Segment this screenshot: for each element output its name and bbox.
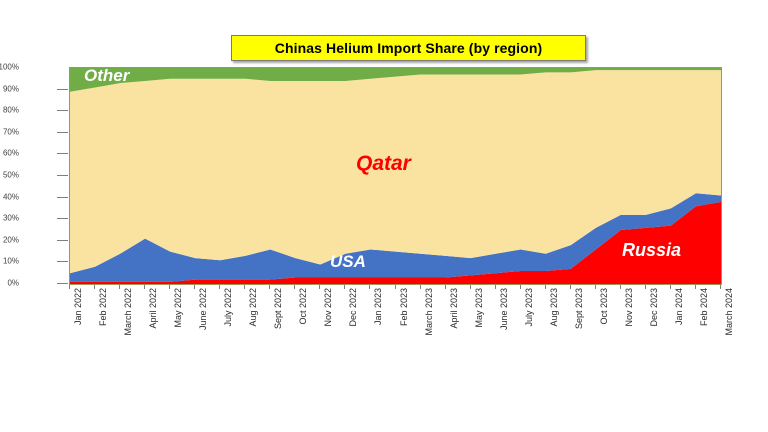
x-axis-tick-label: Aug 2022 <box>248 288 258 327</box>
y-axis-tick-mark <box>57 283 68 284</box>
y-axis-tick-mark <box>57 240 68 241</box>
x-axis-tick-label: Jan 2023 <box>373 288 383 325</box>
plot-area <box>69 67 722 285</box>
x-axis-tick-label: Feb 2023 <box>399 288 409 326</box>
x-axis-tick-label: Oct 2022 <box>298 288 308 325</box>
chart-title-box: Chinas Helium Import Share (by region) <box>231 35 586 61</box>
x-axis-tick-label: Jan 2024 <box>674 288 684 325</box>
y-axis-tick-mark <box>57 218 68 219</box>
x-axis-tick-label: April 2022 <box>148 288 158 329</box>
y-axis-tick-mark <box>57 197 68 198</box>
x-axis-tick-label: March 2024 <box>724 288 734 336</box>
x-axis-tick-label: Feb 2022 <box>98 288 108 326</box>
x-axis-tick-label: June 2023 <box>499 288 509 330</box>
x-axis-tick-label: April 2023 <box>449 288 459 329</box>
x-axis-tick-label: July 2022 <box>223 288 233 327</box>
y-axis-tick-label: 0% <box>7 279 19 288</box>
x-axis-tick-label: Feb 2024 <box>699 288 709 326</box>
x-axis-tick-label: Jan 2022 <box>73 288 83 325</box>
y-axis-tick-label: 40% <box>3 192 19 201</box>
x-axis-tick-label: March 2023 <box>424 288 434 336</box>
stacked-area-svg <box>70 68 721 284</box>
y-axis-tick-label: 50% <box>3 171 19 180</box>
y-axis-tick-mark <box>57 153 68 154</box>
y-axis-tick-label: 30% <box>3 214 19 223</box>
x-axis-tick-label: July 2023 <box>524 288 534 327</box>
y-axis-tick-label: 60% <box>3 149 19 158</box>
y-axis-tick-mark <box>57 132 68 133</box>
x-axis-tick-label: Oct 2023 <box>599 288 609 325</box>
x-axis-tick-label: Dec 2022 <box>348 288 358 327</box>
page-title: Chinas Helium Import Share (by region) <box>275 40 543 56</box>
y-axis-tick-mark <box>57 261 68 262</box>
x-axis-tick-label: March 2022 <box>123 288 133 336</box>
x-axis-tick-label: Nov 2023 <box>624 288 634 327</box>
chart-container: Chinas Helium Import Share (by region) S… <box>0 0 768 432</box>
y-axis-tick-mark <box>57 89 68 90</box>
y-axis-tick-label: 90% <box>3 84 19 93</box>
y-axis-tick-label: 100% <box>0 63 19 72</box>
x-axis-tick-label: Sept 2023 <box>574 288 584 329</box>
x-axis-tick-label: May 2022 <box>173 288 183 328</box>
y-axis-tick-mark <box>57 110 68 111</box>
x-axis-tick-label: Dec 2023 <box>649 288 659 327</box>
y-axis-tick-label: 10% <box>3 257 19 266</box>
x-axis-tick-label: June 2022 <box>198 288 208 330</box>
x-axis-tick-label: Nov 2022 <box>323 288 333 327</box>
x-axis-tick-label: Sept 2022 <box>273 288 283 329</box>
y-axis-tick-label: 70% <box>3 127 19 136</box>
y-axis-tick-label: 80% <box>3 106 19 115</box>
x-axis-tick-label: Aug 2023 <box>549 288 559 327</box>
y-axis: 0%10%20%30%40%50%60%70%80%90%100% <box>0 0 69 432</box>
y-axis-tick-label: 20% <box>3 235 19 244</box>
y-axis-tick-mark <box>57 175 68 176</box>
x-axis-tick-label: May 2023 <box>474 288 484 328</box>
